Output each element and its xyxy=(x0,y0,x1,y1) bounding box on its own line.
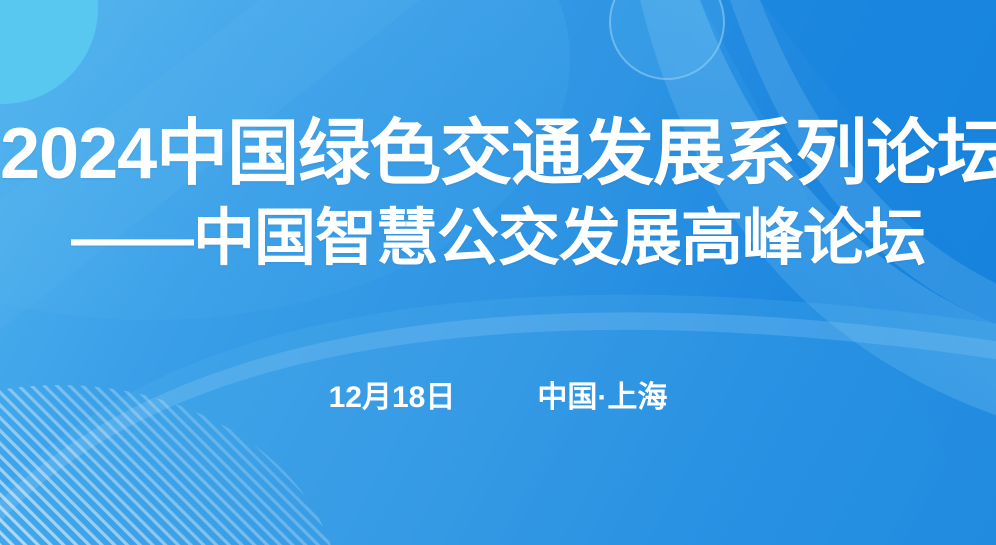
banner-content: 2024中国绿色交通发展系列论坛 ——中国智慧公交发展高峰论坛 12月18日 中… xyxy=(0,0,996,545)
banner-meta-row: 12月18日 中国·上海 xyxy=(0,372,996,416)
banner-title-main: 2024中国绿色交通发展系列论坛 xyxy=(0,118,996,190)
banner-date: 12月18日 xyxy=(329,372,456,416)
event-banner: 2024中国绿色交通发展系列论坛 ——中国智慧公交发展高峰论坛 12月18日 中… xyxy=(0,0,996,545)
banner-title-sub: ——中国智慧公交发展高峰论坛 xyxy=(0,208,996,270)
banner-location: 中国·上海 xyxy=(537,372,667,416)
